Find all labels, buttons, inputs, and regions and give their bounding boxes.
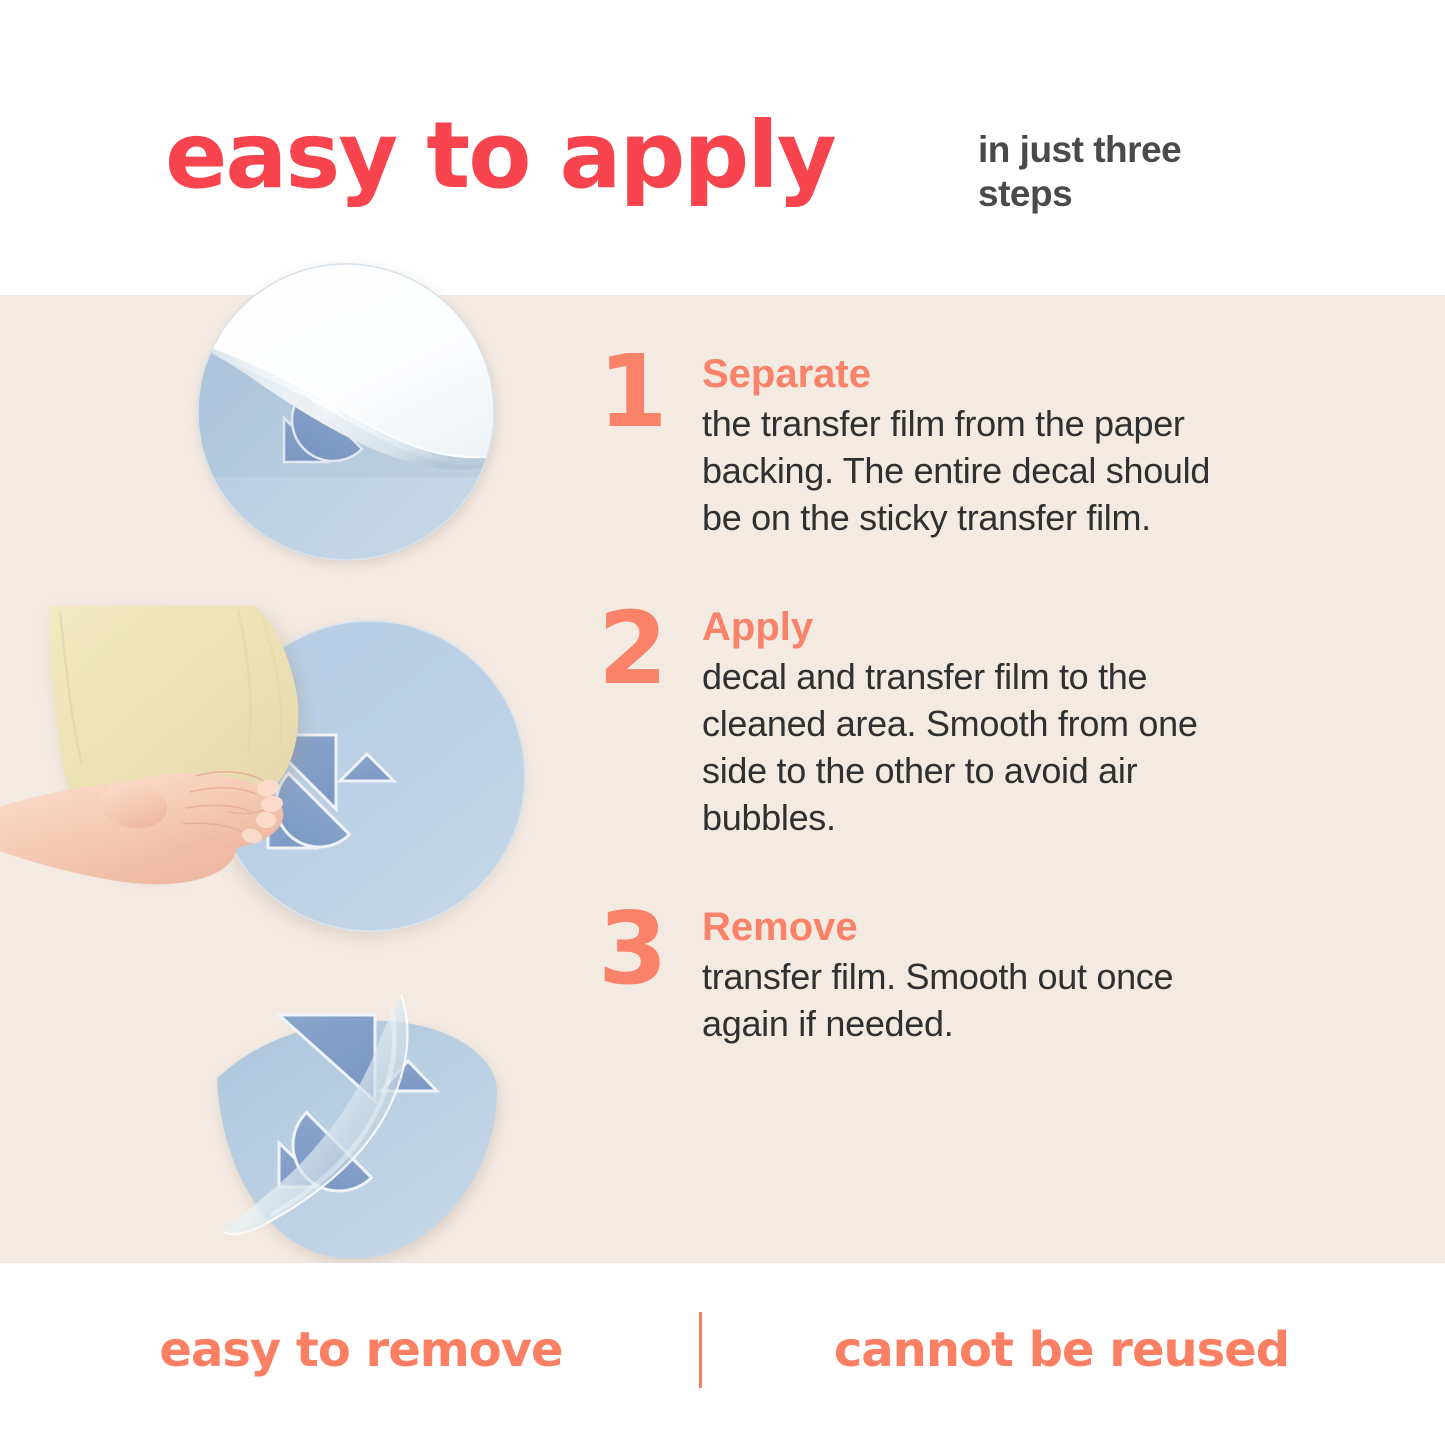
footer: easy to remove cannot be reused [0, 1263, 1445, 1445]
step-number-2: 2 [598, 599, 686, 699]
footer-claim-cannot-be-reused: cannot be reused [762, 1322, 1362, 1378]
step-title-3: Remove [702, 903, 1258, 951]
step-number-1: 1 [598, 342, 686, 442]
page-title: easy to apply [165, 108, 835, 204]
step-text-1: the transfer film from the paper backing… [702, 400, 1258, 541]
step-item-1: 1 Separate the transfer film from the pa… [598, 350, 1258, 541]
infographic-page: easy to apply in just three steps [0, 0, 1445, 1445]
step-title-2: Apply [702, 603, 1258, 651]
step-body-3: Remove transfer film. Smooth out once ag… [702, 903, 1258, 1047]
step-item-3: 3 Remove transfer film. Smooth out once … [598, 903, 1258, 1047]
steps-list: 1 Separate the transfer film from the pa… [598, 350, 1258, 1109]
illustration-apply [0, 598, 510, 948]
illustration-remove [205, 995, 515, 1270]
step-title-1: Separate [702, 350, 1258, 398]
footer-claim-easy-to-remove: easy to remove [84, 1322, 639, 1378]
header: easy to apply in just three steps [0, 0, 1445, 295]
step-text-3: transfer film. Smooth out once again if … [702, 953, 1258, 1047]
footer-claims: easy to remove cannot be reused [0, 1315, 1445, 1385]
step-number-3: 3 [598, 899, 686, 999]
page-subtitle: in just three steps [978, 128, 1258, 216]
step-text-2: decal and transfer film to the cleaned a… [702, 653, 1258, 841]
step-item-2: 2 Apply decal and transfer film to the c… [598, 603, 1258, 841]
illustration-separate [196, 262, 496, 562]
step-body-1: Separate the transfer film from the pape… [702, 350, 1258, 541]
footer-divider [699, 1312, 702, 1388]
step-body-2: Apply decal and transfer film to the cle… [702, 603, 1258, 841]
